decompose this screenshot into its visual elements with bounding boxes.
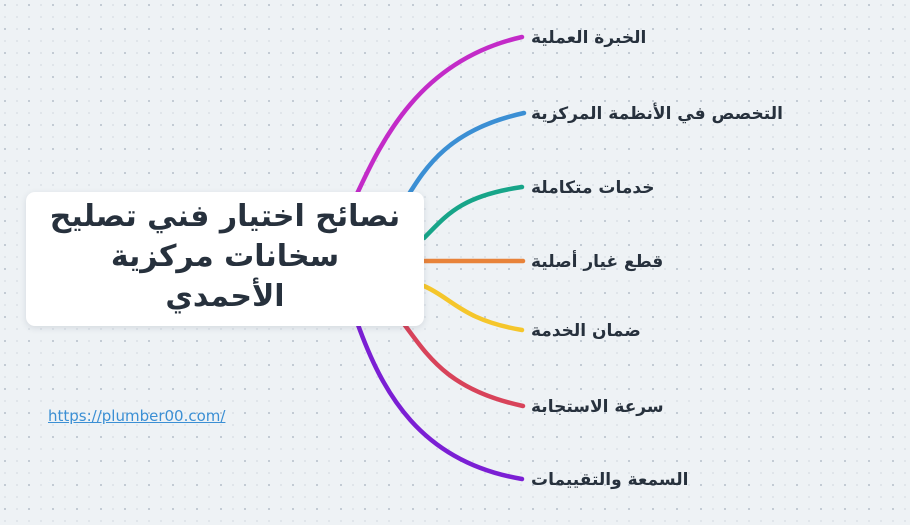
central-node[interactable]: نصائح اختيار فني تصليح سخانات مركزية الأ…	[26, 192, 424, 326]
source-url-link[interactable]: https://plumber00.com/	[48, 407, 225, 425]
branch-connector-0	[356, 37, 522, 196]
branch-connector-6	[357, 322, 522, 479]
branch-label-4[interactable]: ضمان الخدمة	[531, 323, 641, 340]
branch-connector-1	[404, 113, 524, 202]
central-node-title: نصائح اختيار فني تصليح سخانات مركزية الأ…	[48, 197, 402, 317]
branch-label-3[interactable]: قطع غيار أصلية	[531, 254, 663, 271]
mindmap-canvas: نصائح اختيار فني تصليح سخانات مركزية الأ…	[0, 0, 910, 525]
branch-connector-2	[424, 187, 522, 238]
branch-label-2[interactable]: خدمات متكاملة	[531, 180, 655, 197]
branch-label-1[interactable]: التخصص في الأنظمة المركزية	[531, 106, 783, 123]
branch-connector-4	[424, 286, 522, 330]
branch-connector-5	[404, 324, 523, 406]
branch-label-5[interactable]: سرعة الاستجابة	[531, 399, 664, 416]
branch-label-6[interactable]: السمعة والتقييمات	[531, 472, 688, 489]
branch-label-0[interactable]: الخبرة العملية	[531, 30, 646, 47]
